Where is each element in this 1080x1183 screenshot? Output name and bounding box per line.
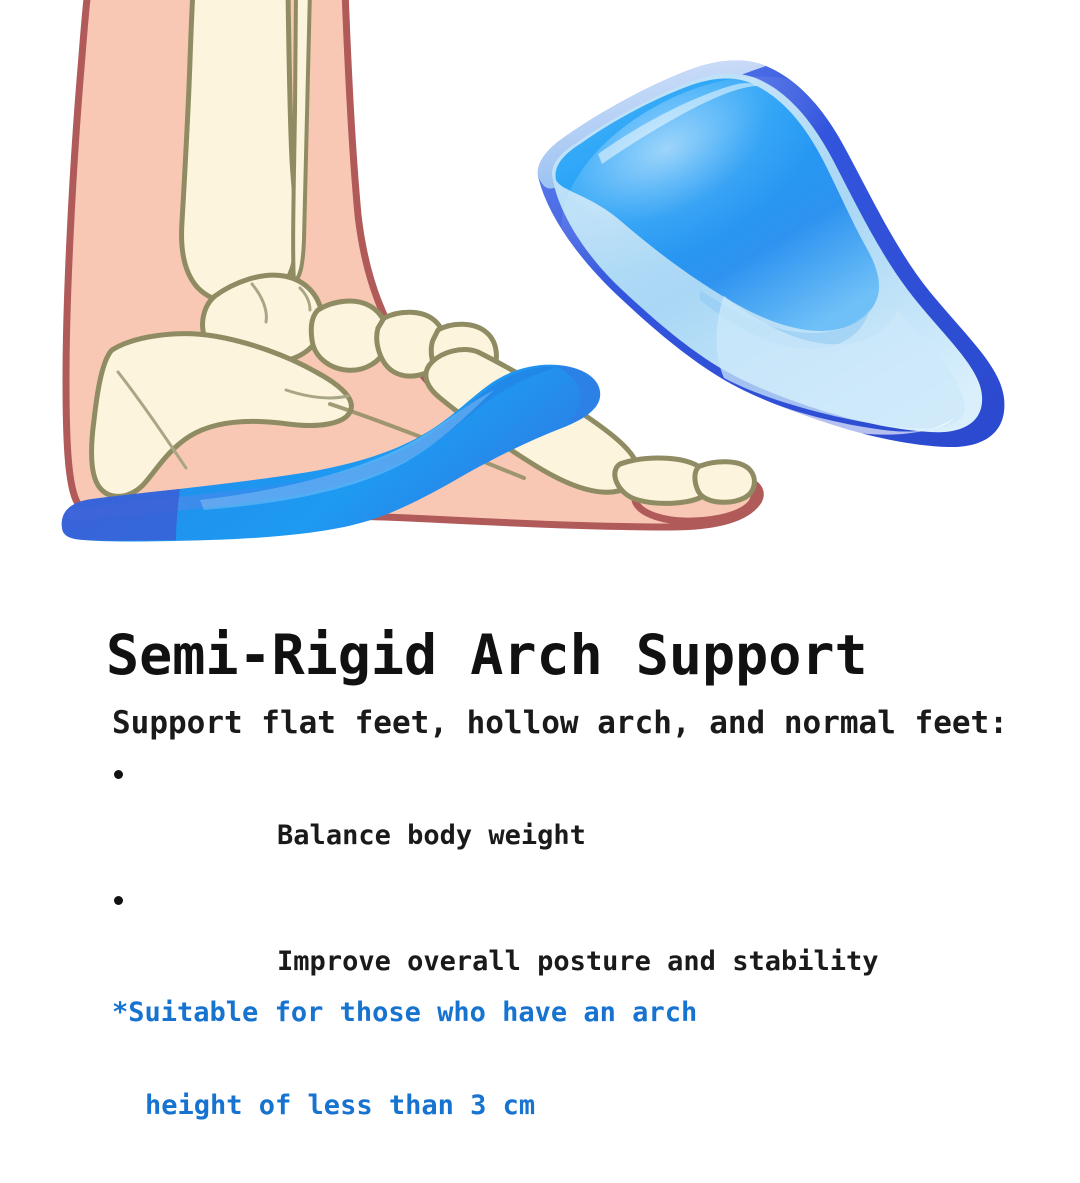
benefit-text: Balance body weight <box>277 820 586 851</box>
list-item: Balance body weight <box>112 758 879 882</box>
footnote-text-2: height of less than 3 cm <box>112 1090 697 1121</box>
illustration-canvas <box>0 0 1080 600</box>
product-text-block: Semi-Rigid Arch Support Support flat fee… <box>0 600 1080 1080</box>
footnote-text-1: Suitable for those who have an arch <box>128 997 697 1028</box>
foot-anatomy-illustration <box>0 0 1080 600</box>
product-info-poster: Semi-Rigid Arch Support Support flat fee… <box>0 0 1080 1080</box>
bullet-icon <box>114 896 123 905</box>
page-title: Semi-Rigid Arch Support <box>106 624 868 686</box>
footnote: *Suitable for those who have an arch hei… <box>112 935 697 1183</box>
bone-phalanx-distal <box>695 462 754 503</box>
footnote-line-1: *Suitable for those who have an arch <box>112 997 697 1028</box>
bullet-icon <box>114 770 123 779</box>
subtitle: Support flat feet, hollow arch, and norm… <box>112 704 1008 742</box>
insole-3d-perspective <box>527 34 1004 447</box>
bone-tibia <box>182 0 297 304</box>
footnote-asterisk-icon: * <box>112 997 128 1028</box>
